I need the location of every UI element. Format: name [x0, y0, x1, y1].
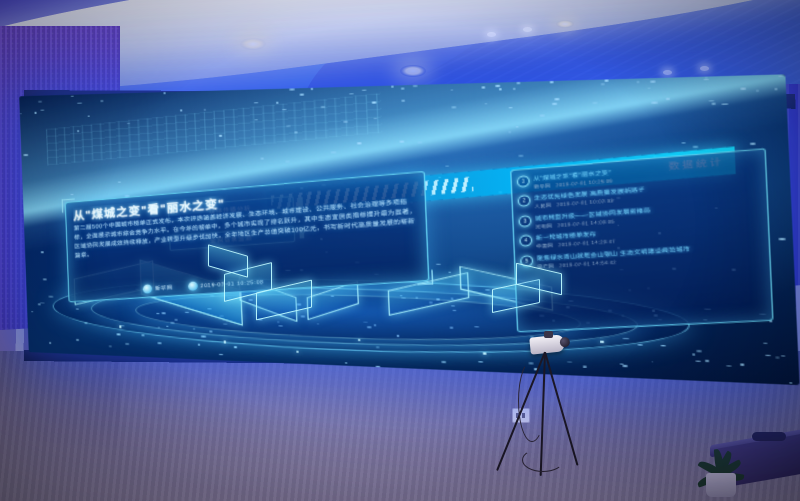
ceiling-downlight [400, 65, 426, 77]
potted-plant [696, 435, 748, 497]
camera-mount [544, 331, 553, 338]
news-item-number: 1 [517, 175, 530, 187]
plant-pot [706, 473, 736, 497]
article-source: 新华网 [155, 284, 173, 292]
ceiling-spot-reflection [700, 66, 709, 71]
camera-on-tripod[interactable] [520, 336, 610, 476]
camera-cable [522, 448, 564, 472]
ceiling-spot-reflection [663, 70, 672, 75]
ceiling-downlight [240, 38, 266, 50]
article-source-chip: 新华网 [142, 283, 173, 294]
control-room-photo: 数据统计 媒体传播分析 全网信息监测 从"煤城之变"看"丽水之变" 第二届500… [0, 0, 800, 501]
ceiling-spot-reflection [523, 27, 532, 32]
news-item-number: 4 [520, 235, 533, 247]
camera-cable [518, 360, 546, 442]
news-item-number: 3 [519, 215, 532, 227]
news-item-number: 2 [518, 195, 531, 207]
ceiling-downlight [556, 20, 574, 28]
led-video-wall[interactable]: 数据统计 媒体传播分析 全网信息监测 从"煤城之变"看"丽水之变" 第二届500… [19, 74, 799, 385]
desk-object [752, 432, 786, 441]
news-list-panel[interactable]: 1从"煤城之变"看"丽水之变"新华网2019-07-01 10:25:082生态… [510, 148, 773, 333]
clock-icon [187, 282, 197, 292]
camera-lens [559, 337, 570, 348]
ceiling-spot-reflection [487, 32, 496, 37]
source-icon [142, 285, 152, 295]
